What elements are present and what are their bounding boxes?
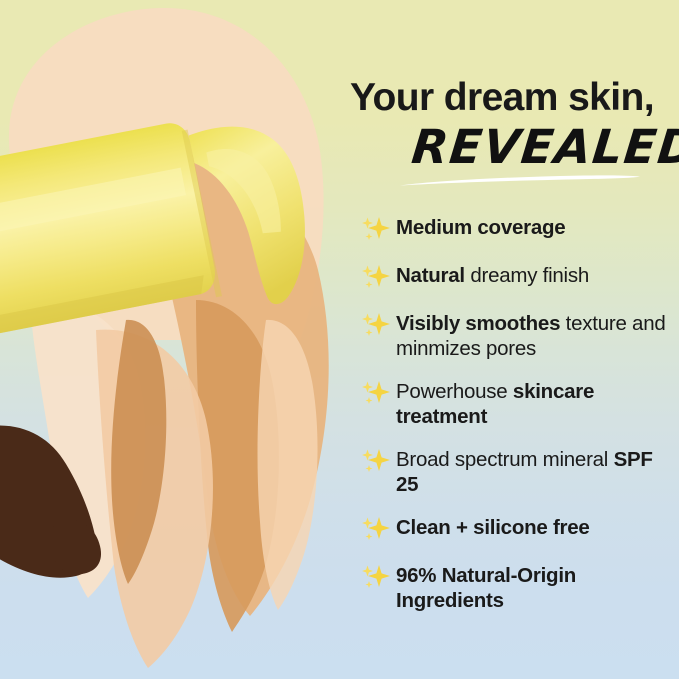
headline-line-1: Your dream skin, [350, 78, 670, 118]
headline-line-2-wrap: REVEALED [350, 120, 670, 182]
sparkle-icon [358, 379, 396, 409]
list-item-bold: Clean + silicone free [396, 516, 590, 539]
sparkle-icon [358, 563, 396, 593]
list-item-rest: Broad spectrum mineral [396, 448, 614, 471]
feature-bullet-list: Medium coverage Natural dreamy finish [358, 214, 676, 630]
list-item-text: Medium coverage [396, 214, 676, 240]
list-item: Powerhouse skincare treatment [358, 378, 676, 429]
list-item-bold: Visibly smoothes [396, 312, 560, 335]
list-item-bold: Medium coverage [396, 216, 565, 239]
list-item-text: Visibly smoothes texture and minmizes po… [396, 310, 676, 361]
sparkle-icon [358, 215, 396, 245]
list-item-rest: dreamy finish [465, 264, 589, 287]
list-item: Broad spectrum mineral SPF 25 [358, 446, 676, 497]
list-item-text: Broad spectrum mineral SPF 25 [396, 446, 676, 497]
list-item-text: Powerhouse skincare treatment [396, 378, 676, 429]
brush-swoosh-underline-icon [398, 174, 642, 187]
product-feature-graphic: Your dream skin, REVEALED Medium coverag… [0, 0, 679, 679]
list-item: Clean + silicone free [358, 514, 676, 545]
sparkle-icon [358, 263, 396, 293]
list-item: 96% Natural-Origin Ingredients [358, 562, 676, 613]
list-item: Natural dreamy finish [358, 262, 676, 293]
headline-line-2: REVEALED [409, 120, 679, 175]
list-item: Visibly smoothes texture and minmizes po… [358, 310, 676, 361]
list-item-bold: 96% Natural-Origin Ingredients [396, 564, 576, 612]
sparkle-icon [358, 311, 396, 341]
product-artwork [0, 0, 360, 679]
list-item-rest: Powerhouse [396, 380, 513, 403]
list-item: Medium coverage [358, 214, 676, 245]
list-item-bold: Natural [396, 264, 465, 287]
sparkle-icon [358, 515, 396, 545]
list-item-text: Natural dreamy finish [396, 262, 676, 288]
list-item-text: Clean + silicone free [396, 514, 676, 540]
sparkle-icon [358, 447, 396, 477]
list-item-text: 96% Natural-Origin Ingredients [396, 562, 676, 613]
headline-block: Your dream skin, REVEALED [350, 78, 670, 182]
